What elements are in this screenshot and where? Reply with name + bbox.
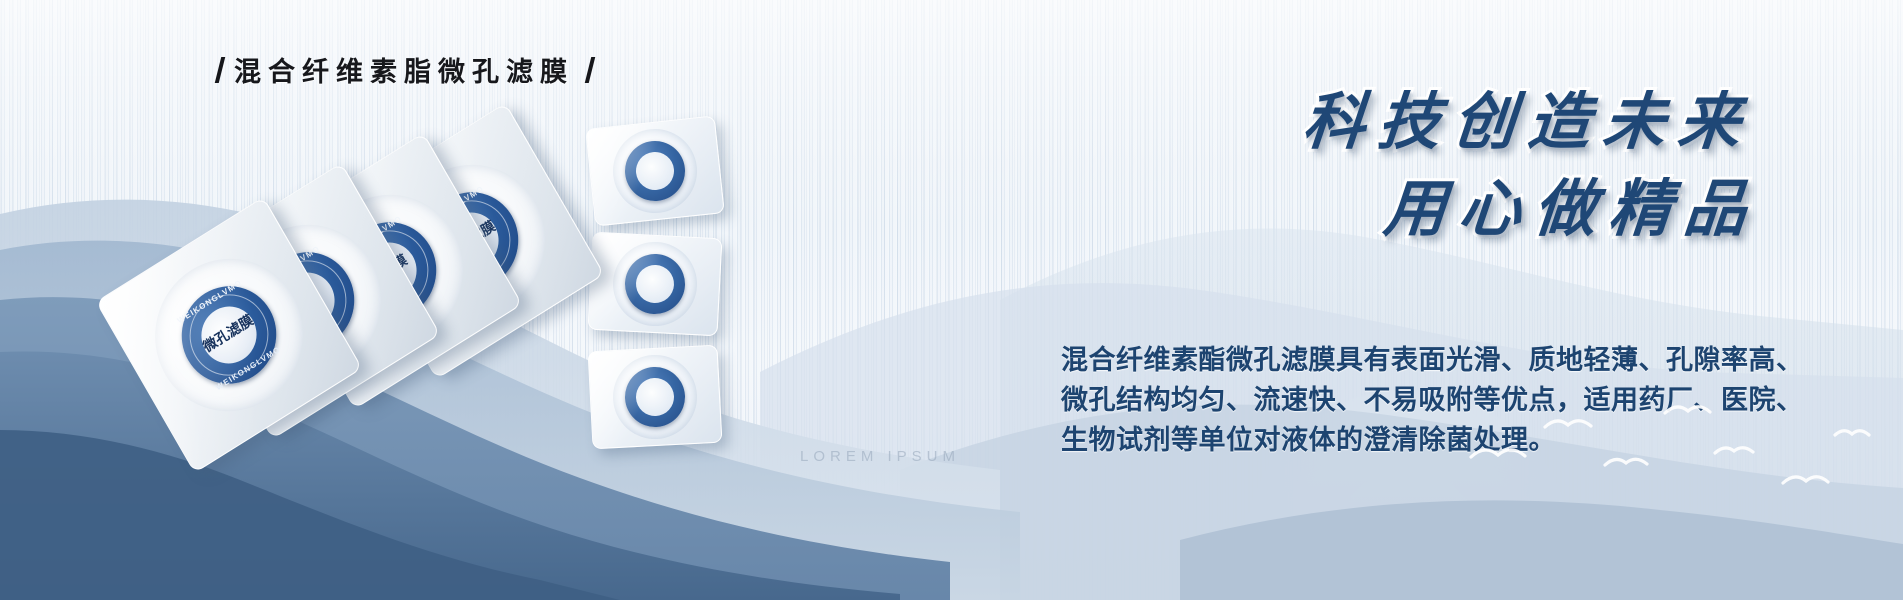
bird-icon bbox=[1783, 477, 1828, 483]
headline: 科技创造未来 用心做精品 bbox=[1303, 82, 1753, 249]
product-packet-column bbox=[590, 122, 740, 452]
product-packet-small-2 bbox=[588, 232, 723, 337]
kicker-title-text: 混合纤维素脂微孔滤膜 bbox=[234, 50, 574, 89]
headline-line-1: 科技创造未来 bbox=[1299, 82, 1756, 163]
packet-sheen bbox=[589, 346, 722, 449]
packet-sheen bbox=[586, 117, 723, 226]
bird-icon bbox=[1471, 450, 1525, 457]
bird-icon bbox=[1715, 448, 1753, 453]
product-packet-small-1 bbox=[585, 115, 725, 226]
kicker-title: 混合纤维素脂微孔滤膜 bbox=[218, 50, 592, 89]
bird-icon bbox=[1545, 421, 1591, 427]
bird-icon bbox=[1835, 431, 1869, 435]
product-packet-small-3 bbox=[588, 345, 723, 450]
birds-svg bbox=[1453, 395, 1873, 515]
bird-icon bbox=[1665, 407, 1710, 413]
bird-icon bbox=[1605, 459, 1647, 465]
headline-line-2: 用心做精品 bbox=[1299, 169, 1762, 250]
packet-sheen bbox=[589, 233, 722, 336]
promotional-banner: WEIKONGLVMO 微孔滤膜 WEIKONGLVMO 孔滤膜 WEIKONG… bbox=[0, 0, 1903, 600]
watermark-text: LOREM IPSUM bbox=[800, 448, 960, 465]
product-packet-stack: WEIKONGLVMO 微孔滤膜 WEIKONGLVMO 孔滤膜 WEIKONG… bbox=[120, 140, 560, 440]
body-line-1: 混合纤维素酯微孔滤膜具有表面光滑、质地轻薄、孔隙率高、 bbox=[1061, 340, 1751, 380]
flying-birds-group bbox=[1453, 395, 1873, 515]
